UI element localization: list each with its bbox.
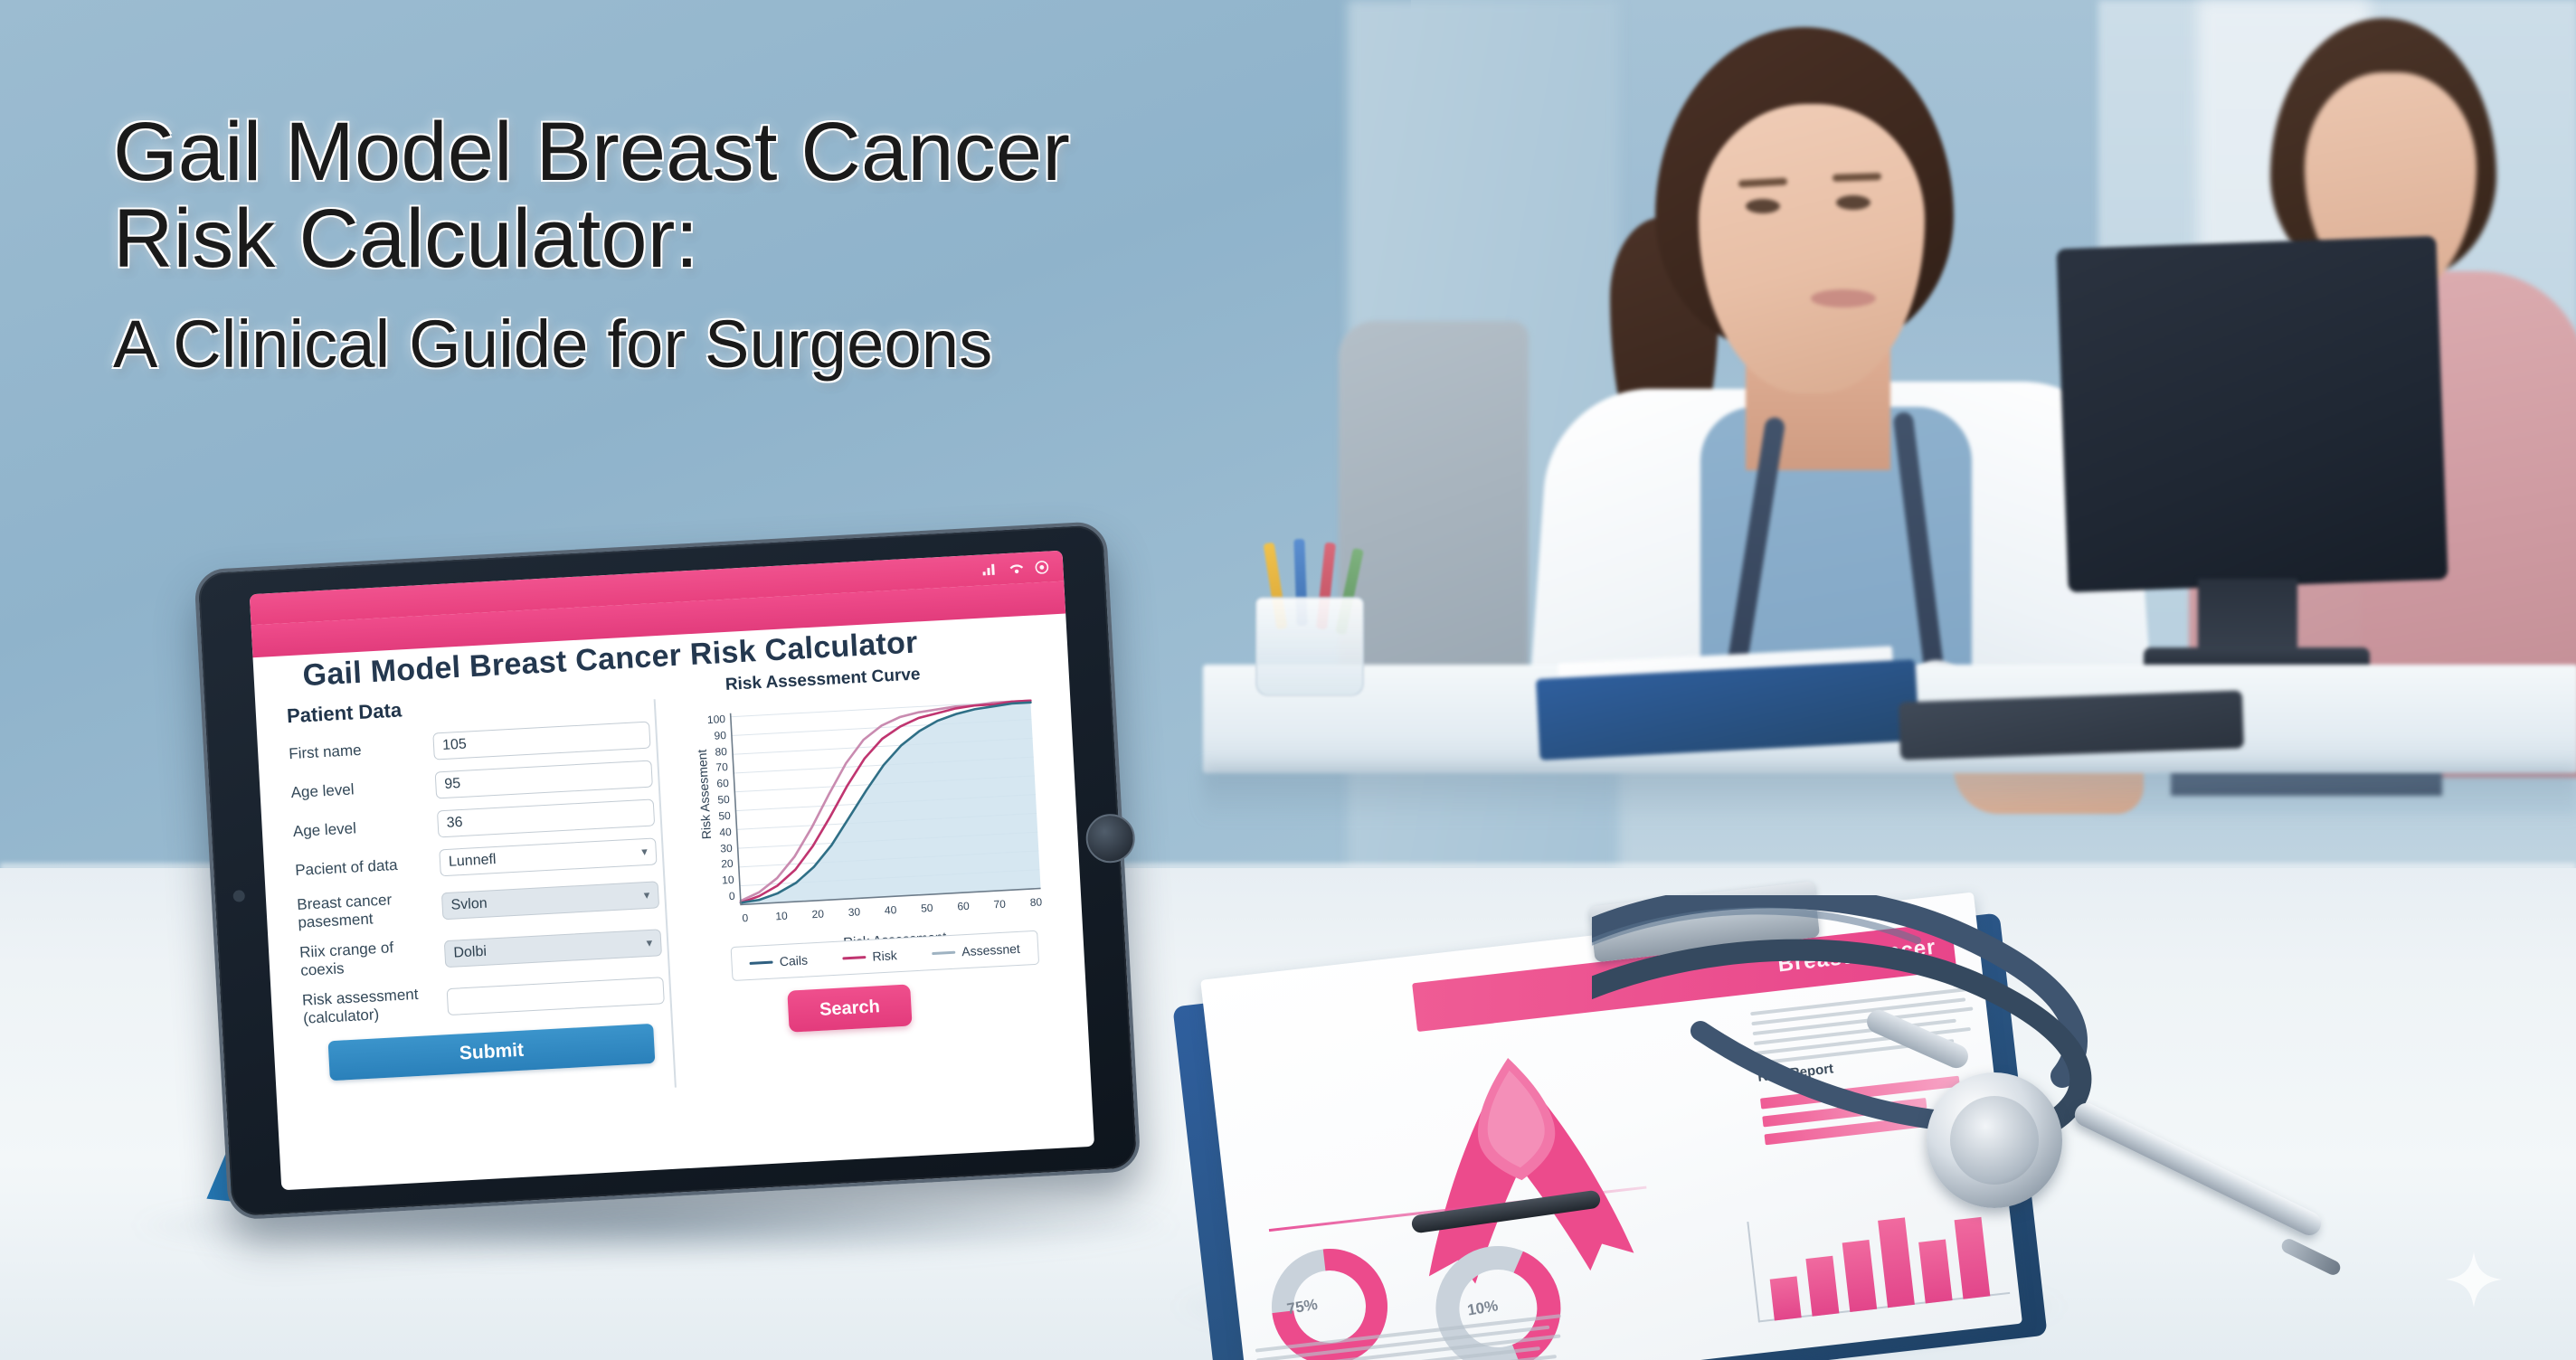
consultation-desk-shadow xyxy=(1203,767,2576,821)
doctor-figure xyxy=(1474,27,2162,751)
chart-x-tick: 70 xyxy=(993,898,1006,911)
chart-y-tick: 50 xyxy=(696,793,730,807)
chevron-down-icon: ▾ xyxy=(641,845,648,859)
field-label: Riix crange of coexis xyxy=(299,937,437,980)
field-age-level-1: Age level 95 xyxy=(290,760,653,807)
tablet-device: Gail Model Breast Cancer Risk Calculator… xyxy=(166,515,1263,1294)
doctor-lips xyxy=(1811,289,1876,307)
legend-item: Risk xyxy=(842,948,897,965)
field-risk-range: Riix crange of coexis Dolbi ▾ xyxy=(299,924,663,980)
field-age-level-2: Age level 36 xyxy=(292,798,655,845)
chart-y-tick: 0 xyxy=(702,890,735,904)
age-level-input-2[interactable]: 36 xyxy=(437,798,655,837)
age-level-input-1[interactable]: 95 xyxy=(435,760,653,799)
signal-bars-icon xyxy=(981,563,999,577)
keyboard xyxy=(1899,690,2244,760)
field-first-name: First name 105 xyxy=(289,722,651,769)
chart-svg xyxy=(726,695,1045,914)
app-content: Patient Data First name 105 Age level 95… xyxy=(255,662,1094,1190)
chart-x-tick: 80 xyxy=(1029,895,1042,909)
title-line-1: Gail Model Breast Cancer xyxy=(113,109,1470,195)
field-risk-assessment-calculator: Risk assessment (calculator) xyxy=(302,972,666,1028)
pacient-of-data-select[interactable]: Lunnefl ▾ xyxy=(439,837,657,876)
chart-x-tick: 0 xyxy=(742,911,748,924)
document-bar xyxy=(1770,1276,1802,1320)
chevron-down-icon: ▾ xyxy=(646,936,652,950)
legend-item: Assessnet xyxy=(932,941,1020,960)
field-label: Risk assessment (calculator) xyxy=(302,985,440,1028)
breast-cancer-assessment-select[interactable]: Svlon ▾ xyxy=(441,881,659,920)
title-line-3: A Clinical Guide for Surgeons xyxy=(113,282,1470,394)
chart-x-tick: 20 xyxy=(811,907,824,921)
select-value: Svlon xyxy=(450,896,488,914)
legend-label: Cails xyxy=(779,953,808,969)
page-title: Gail Model Breast Cancer Risk Calculator… xyxy=(113,109,1470,394)
chart-y-tick: 30 xyxy=(699,841,733,855)
field-label: Breast cancer pasesment xyxy=(297,889,434,932)
legend-swatch xyxy=(842,956,866,959)
chart-x-tick: 10 xyxy=(775,910,788,923)
tablet-screen: Gail Model Breast Cancer Risk Calculator… xyxy=(250,551,1094,1191)
field-pacient-of-data: Pacient of data Lunnefl ▾ xyxy=(295,837,658,884)
submit-button[interactable]: Submit xyxy=(328,1024,656,1081)
chart-plot-area: Risk Assesment 100908070605050403020100 … xyxy=(674,682,1061,973)
legend-swatch xyxy=(750,960,773,964)
sparkle-icon xyxy=(2442,1248,2505,1311)
doctor-face xyxy=(1699,104,1925,393)
legend-swatch xyxy=(932,950,955,954)
risk-assessment-chart: Risk Assessment Curve Risk Assesment 100… xyxy=(672,657,1067,972)
poster-canvas: Gail Model Breast Cancer Risk Calculator… xyxy=(0,0,2576,1360)
chart-y-tick: 90 xyxy=(694,729,727,743)
tablet-bezel: Gail Model Breast Cancer Risk Calculator… xyxy=(194,521,1141,1221)
title-line-2: Risk Calculator: xyxy=(113,195,1470,282)
doctor-eye-right xyxy=(1836,195,1870,210)
chart-y-tick: 60 xyxy=(696,777,729,791)
chart-x-tick: 50 xyxy=(921,902,933,915)
chart-y-tick: 50 xyxy=(697,809,731,824)
risk-range-select[interactable]: Dolbi ▾ xyxy=(444,929,662,968)
legend-label: Risk xyxy=(872,948,897,963)
field-label: Pacient of data xyxy=(295,855,431,880)
patient-data-form: Patient Data First name 105 Age level 95… xyxy=(286,685,668,1082)
chart-y-tick: 100 xyxy=(693,713,726,727)
chart-y-tick: 10 xyxy=(701,874,734,888)
legend-label: Assessnet xyxy=(961,941,1020,959)
field-label: Age level xyxy=(290,777,427,802)
chart-y-tick: 20 xyxy=(700,857,734,872)
chart-x-tick: 30 xyxy=(848,905,860,919)
desktop-monitor xyxy=(2056,236,2448,592)
chart-y-tick: 40 xyxy=(698,826,732,840)
field-label: Age level xyxy=(292,816,429,841)
select-value: Lunnefl xyxy=(449,852,497,871)
gear-icon xyxy=(1035,560,1049,574)
doctor-eye-left xyxy=(1746,199,1780,213)
chart-x-tick: 40 xyxy=(885,903,897,917)
chart-x-tick: 60 xyxy=(957,900,970,913)
select-value: Dolbi xyxy=(453,944,487,962)
legend-item: Cails xyxy=(749,953,808,970)
front-camera-icon xyxy=(232,890,245,902)
chart-y-tick: 80 xyxy=(695,745,728,760)
search-button[interactable]: Search xyxy=(787,984,912,1032)
wifi-icon xyxy=(1009,562,1025,575)
risk-assessment-input[interactable] xyxy=(447,977,665,1015)
stethoscope-chestpiece-fg xyxy=(1927,1072,2062,1208)
home-button[interactable] xyxy=(1084,813,1136,864)
field-label: First name xyxy=(289,738,425,763)
chart-y-tick: 70 xyxy=(695,760,728,775)
pencil-cup xyxy=(1255,597,1364,696)
chevron-down-icon: ▾ xyxy=(643,888,649,902)
field-breast-cancer-assessment: Breast cancer pasesment Svlon ▾ xyxy=(297,876,660,932)
first-name-input[interactable]: 105 xyxy=(432,722,650,760)
